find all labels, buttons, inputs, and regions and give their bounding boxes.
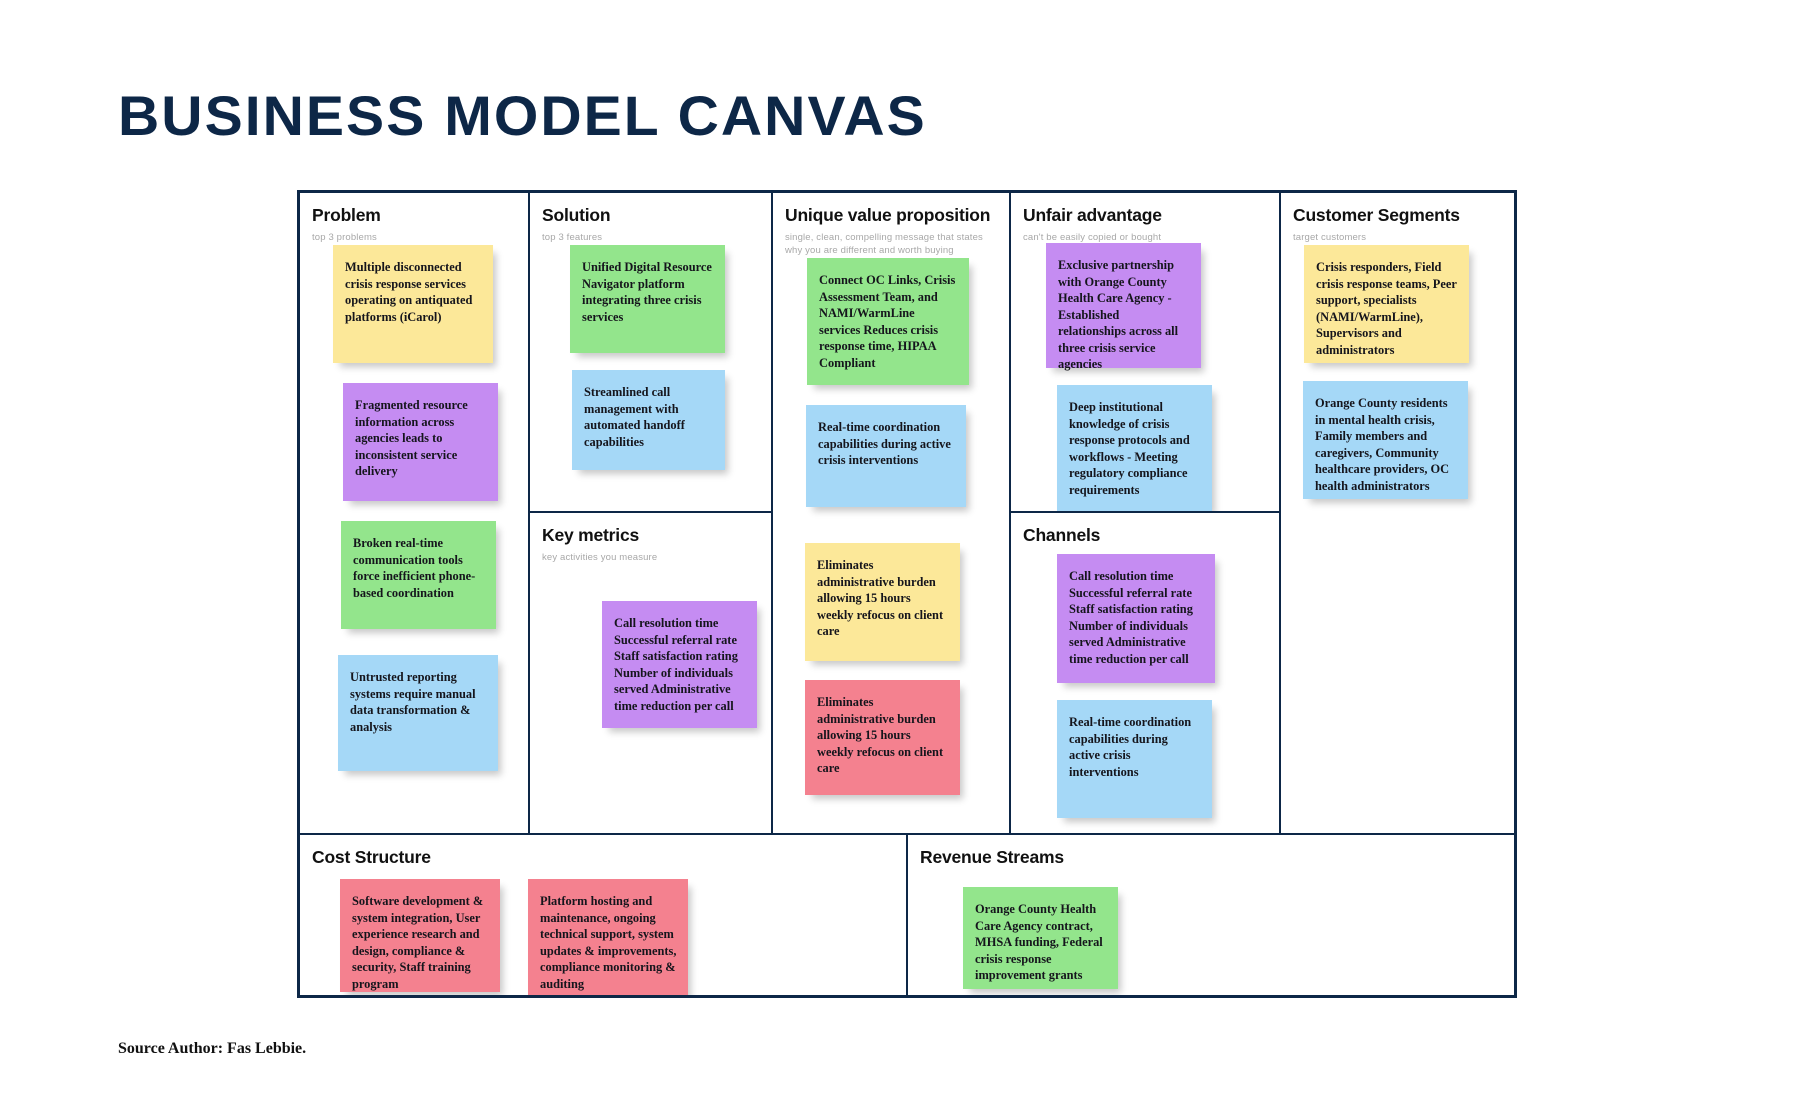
section-customer-segments-subtitle: target customers: [1293, 231, 1507, 244]
section-unfair-advantage-heading: Unfair advantage: [1023, 206, 1279, 225]
section-customer-segments-heading: Customer Segments: [1293, 206, 1514, 225]
section-customer-segments: Customer Segments target customers Crisi…: [1281, 193, 1514, 835]
sticky-note[interactable]: Real-time coordination capabilities duri…: [806, 405, 966, 507]
business-model-canvas: Problem top 3 problems Multiple disconne…: [297, 190, 1517, 998]
sticky-note[interactable]: Orange County residents in mental health…: [1303, 381, 1468, 499]
section-solution: Solution top 3 features Unified Digital …: [530, 193, 773, 513]
sticky-note[interactable]: Crisis responders, Field crisis response…: [1304, 245, 1469, 363]
sticky-note[interactable]: Call resolution time Successful referral…: [602, 601, 757, 728]
section-uvp-subtitle: single, clean, compelling message that s…: [785, 231, 1002, 257]
sticky-note[interactable]: Call resolution time Successful referral…: [1057, 554, 1215, 683]
section-problem-heading: Problem: [312, 206, 528, 225]
section-key-metrics: Key metrics key activities you measure C…: [530, 513, 773, 835]
sticky-note[interactable]: Fragmented resource information across a…: [343, 383, 498, 501]
section-cost-structure-heading: Cost Structure: [312, 848, 906, 867]
section-unique-value-proposition: Unique value proposition single, clean, …: [773, 193, 1011, 835]
sticky-note[interactable]: Multiple disconnected crisis response se…: [333, 245, 493, 363]
section-problem-subtitle: top 3 problems: [312, 231, 522, 244]
sticky-note[interactable]: Exclusive partnership with Orange County…: [1046, 243, 1201, 368]
section-unfair-advantage: Unfair advantage can't be easily copied …: [1011, 193, 1281, 513]
sticky-note[interactable]: Real-time coordination capabilities duri…: [1057, 700, 1212, 818]
sticky-note[interactable]: Software development & system integratio…: [340, 879, 500, 992]
sticky-note[interactable]: Unified Digital Resource Navigator platf…: [570, 245, 725, 353]
section-revenue-streams-heading: Revenue Streams: [920, 848, 1514, 867]
section-channels: Channels Call resolution time Successful…: [1011, 513, 1281, 835]
sticky-note[interactable]: Deep institutional knowledge of crisis r…: [1057, 385, 1212, 511]
sticky-note[interactable]: Streamlined call management with automat…: [572, 370, 725, 470]
source-attribution: Source Author: Fas Lebbie.: [118, 1040, 306, 1058]
sticky-note[interactable]: Eliminates administrative burden allowin…: [805, 543, 960, 661]
section-channels-heading: Channels: [1023, 526, 1279, 545]
sticky-note[interactable]: Platform hosting and maintenance, ongoin…: [528, 879, 688, 995]
page-title: BUSINESS MODEL CANVAS: [118, 88, 927, 144]
section-solution-subtitle: top 3 features: [542, 231, 764, 244]
sticky-note[interactable]: Untrusted reporting systems require manu…: [338, 655, 498, 771]
section-problem: Problem top 3 problems Multiple disconne…: [300, 193, 530, 835]
sticky-note[interactable]: Orange County Health Care Agency contrac…: [963, 887, 1118, 989]
section-revenue-streams: Revenue Streams Orange County Health Car…: [908, 835, 1514, 995]
section-key-metrics-subtitle: key activities you measure: [542, 551, 764, 564]
sticky-note[interactable]: Eliminates administrative burden allowin…: [805, 680, 960, 795]
sticky-note[interactable]: Connect OC Links, Crisis Assessment Team…: [807, 258, 969, 385]
section-key-metrics-heading: Key metrics: [542, 526, 771, 545]
sticky-note[interactable]: Broken real-time communication tools for…: [341, 521, 496, 629]
section-uvp-heading: Unique value proposition: [785, 206, 1009, 225]
section-solution-heading: Solution: [542, 206, 771, 225]
section-cost-structure: Cost Structure Software development & sy…: [300, 835, 908, 995]
